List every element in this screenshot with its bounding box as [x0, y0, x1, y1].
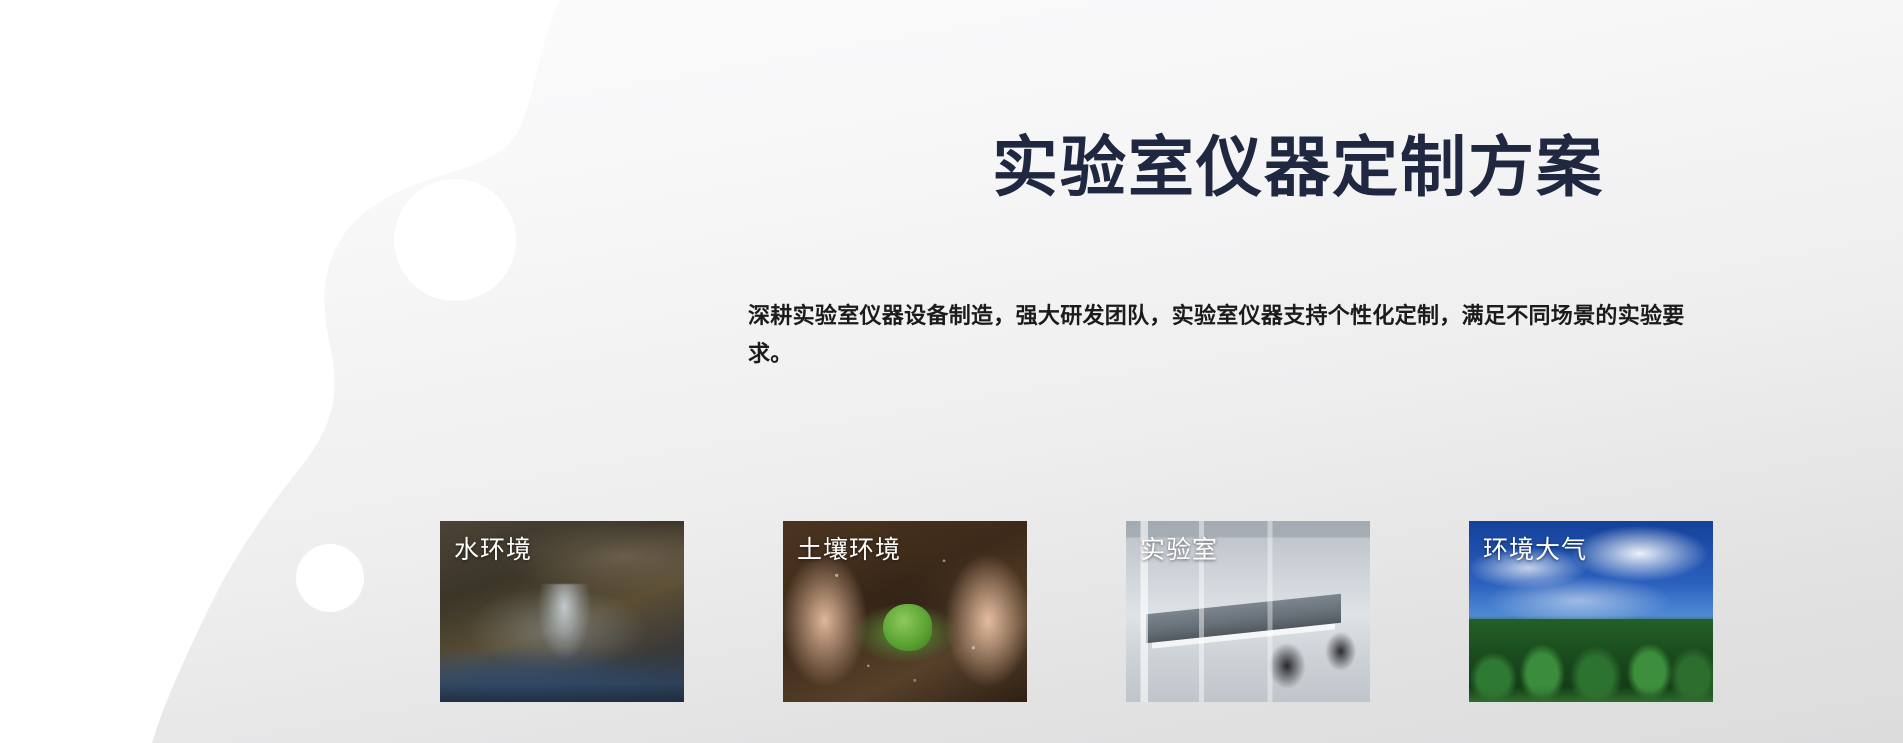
- category-card-label: 水环境: [454, 530, 532, 566]
- category-card-soil[interactable]: 土壤环境: [783, 521, 1027, 702]
- page-title: 实验室仪器定制方案: [992, 129, 1604, 207]
- category-card-water[interactable]: 水环境: [440, 521, 684, 702]
- category-card-laboratory[interactable]: 实验室: [1126, 521, 1370, 702]
- category-card-atmosphere[interactable]: 环境大气: [1469, 521, 1713, 702]
- category-card-label: 土壤环境: [797, 530, 901, 566]
- banner-stage: 实验室仪器定制方案 深耕实验室仪器设备制造，强大研发团队，实验室仪器支持个性化定…: [0, 0, 1903, 743]
- category-card-label: 环境大气: [1483, 530, 1587, 566]
- category-card-list: 水环境 土壤环境 实验室 环境大气: [440, 521, 1713, 702]
- page-subtitle: 深耕实验室仪器设备制造，强大研发团队，实验室仪器支持个性化定制，满足不同场景的实…: [748, 297, 1728, 373]
- category-card-label: 实验室: [1140, 530, 1218, 566]
